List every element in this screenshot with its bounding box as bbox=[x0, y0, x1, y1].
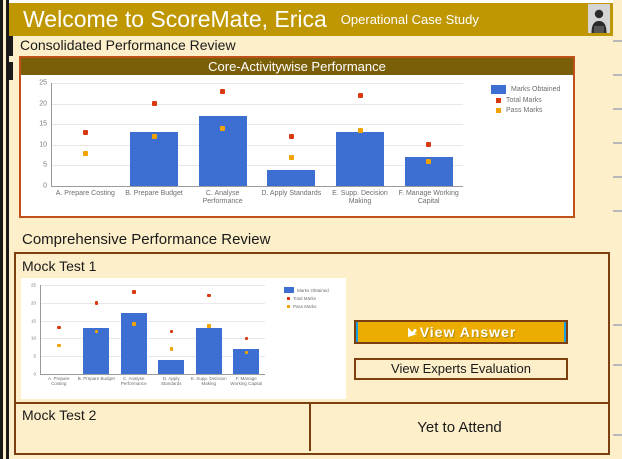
chart2-plotarea bbox=[40, 285, 265, 374]
consolidated-performance-review-label: Consolidated Performance Review bbox=[20, 37, 236, 53]
chart1-legend-label: Total Marks bbox=[506, 97, 542, 104]
chart2-datapoint bbox=[132, 322, 136, 326]
chart2-datapoint bbox=[245, 351, 249, 355]
app-header: Welcome to ScoreMate, Erica Operational … bbox=[9, 3, 613, 36]
right-edge-ticks bbox=[613, 34, 622, 459]
comprehensive-performance-review-label: Comprehensive Performance Review bbox=[22, 231, 270, 248]
mock-test-1-actions: View Answer View Experts Evaluation bbox=[354, 320, 602, 344]
chart2-gridline bbox=[40, 338, 265, 339]
chart-mock-test-1: 0510152025A. Prepare CostingB. Prepare B… bbox=[22, 279, 345, 398]
chart1-legend-item: Marks Obtained bbox=[491, 85, 560, 94]
mock-test-1-chart-container: 0510152025A. Prepare CostingB. Prepare B… bbox=[21, 278, 346, 399]
chart1-datapoint bbox=[220, 89, 225, 94]
chart2-gridline bbox=[40, 303, 265, 304]
chart2-bar bbox=[196, 328, 222, 374]
chart2-gridline bbox=[40, 285, 265, 286]
mock-test-2-row: Mock Test 2 Yet to Attend bbox=[16, 404, 608, 451]
chart2-legend-item: Pass Marks bbox=[284, 304, 329, 309]
chart1-category-label: F. Manage Working Capital bbox=[394, 190, 463, 206]
legend-dot-swatch-icon bbox=[496, 108, 501, 113]
cursor-arrow-icon bbox=[406, 326, 419, 339]
scoremate-page: Welcome to ScoreMate, Erica Operational … bbox=[0, 0, 622, 459]
chart1-plotarea bbox=[51, 83, 463, 186]
header-subtitle: Operational Case Study bbox=[341, 12, 479, 27]
chart1-y-axis bbox=[51, 83, 52, 186]
chart1-legend-item: Total Marks bbox=[491, 97, 560, 104]
mock-test-2-label: Mock Test 2 bbox=[16, 404, 311, 451]
chart2-legend-label: Pass Marks bbox=[293, 304, 317, 309]
chart1-plot-container: 0510152025A. Prepare CostingB. Prepare B… bbox=[21, 75, 573, 216]
chart1-ytick-label: 20 bbox=[21, 100, 47, 107]
chart1-legend-item: Pass Marks bbox=[491, 107, 560, 114]
chart1-bar bbox=[336, 132, 384, 186]
chart2-legend-item: Marks Obtained bbox=[284, 287, 329, 293]
chart2-datapoint bbox=[245, 337, 249, 341]
chart2-datapoint bbox=[170, 347, 174, 351]
chart1-ytick-label: 5 bbox=[21, 162, 47, 169]
chart1-ytick-label: 25 bbox=[21, 80, 47, 87]
chart2-category-label: D. Apply Standards bbox=[153, 376, 191, 386]
mock-test-1-row: Mock Test 1 0510152025A. Prepare Costing… bbox=[16, 254, 608, 404]
chart2-ytick-label: 5 bbox=[22, 354, 36, 359]
chart2-bar bbox=[83, 328, 109, 374]
chart2-category-label: A. Prepare Costing bbox=[40, 376, 78, 386]
chart1-category-label: E. Supp. Decision Making bbox=[326, 190, 395, 206]
chart2-datapoint bbox=[57, 326, 61, 330]
legend-bar-swatch-icon bbox=[491, 85, 506, 94]
chart1-category-label: C. Analyse Performance bbox=[188, 190, 257, 206]
chart2-legend: Marks ObtainedTotal MarksPass Marks bbox=[284, 287, 329, 312]
comprehensive-review-box: Mock Test 1 0510152025A. Prepare Costing… bbox=[14, 252, 610, 455]
chart1-ytick-label: 0 bbox=[21, 183, 47, 190]
chart2-ytick-label: 25 bbox=[22, 283, 36, 288]
chart2-datapoint bbox=[170, 330, 174, 334]
legend-dot-swatch-icon bbox=[496, 98, 501, 103]
chart1-datapoint bbox=[426, 142, 431, 147]
chart1-legend-label: Marks Obtained bbox=[511, 86, 560, 93]
chart1-bar bbox=[267, 170, 315, 186]
chart2-category-label: C. Analyse Performance bbox=[115, 376, 153, 386]
chart2-ytick-label: 0 bbox=[22, 372, 36, 377]
chart1-gridline bbox=[51, 104, 463, 105]
chart2-datapoint bbox=[95, 301, 99, 305]
chart2-ytick-label: 10 bbox=[22, 336, 36, 341]
chart2-datapoint bbox=[57, 344, 61, 348]
chart2-category-label: F. Manage Working Capital bbox=[228, 376, 266, 386]
chart1-legend: Marks ObtainedTotal MarksPass Marks bbox=[491, 85, 560, 117]
legend-dot-swatch-icon bbox=[287, 297, 290, 300]
mock-test-2-status: Yet to Attend bbox=[311, 404, 608, 451]
chart2-category-label: E. Supp. Decision Making bbox=[190, 376, 228, 386]
chart1-gridline bbox=[51, 83, 463, 84]
chart2-gridline bbox=[40, 321, 265, 322]
chart1-bar bbox=[130, 132, 178, 186]
chart1-ytick-label: 15 bbox=[21, 121, 47, 128]
chart2-y-axis bbox=[40, 285, 41, 374]
user-avatar-icon[interactable] bbox=[588, 4, 610, 33]
view-answer-button[interactable]: View Answer bbox=[354, 320, 568, 344]
chart2-legend-label: Marks Obtained bbox=[297, 288, 329, 293]
core-activitywise-performance-panel: Core-Activitywise Performance 0510152025… bbox=[19, 56, 575, 218]
view-answer-label: View Answer bbox=[420, 324, 517, 340]
chart2-gridline bbox=[40, 374, 265, 375]
chart1-datapoint bbox=[358, 93, 363, 98]
chart2-legend-item: Total Marks bbox=[284, 296, 329, 301]
chart1-category-label: D. Apply Standards bbox=[257, 190, 326, 198]
mock-test-1-label: Mock Test 1 bbox=[22, 258, 96, 274]
chart1-category-label: A. Prepare Costing bbox=[51, 190, 120, 198]
legend-bar-swatch-icon bbox=[284, 287, 294, 293]
chart1-category-label: B. Prepare Budget bbox=[120, 190, 189, 198]
chart1-datapoint bbox=[83, 130, 88, 135]
chart-core-activitywise: 0510152025A. Prepare CostingB. Prepare B… bbox=[21, 75, 573, 216]
chart1-datapoint bbox=[358, 128, 363, 133]
chart1-legend-label: Pass Marks bbox=[506, 107, 543, 114]
chart1-datapoint bbox=[152, 101, 157, 106]
chart1-gridline bbox=[51, 186, 463, 187]
chart1-title: Core-Activitywise Performance bbox=[21, 58, 573, 75]
chart1-gridline bbox=[51, 124, 463, 125]
chart1-datapoint bbox=[220, 126, 225, 131]
chart2-ytick-label: 20 bbox=[22, 300, 36, 305]
chart2-gridline bbox=[40, 356, 265, 357]
chart2-datapoint bbox=[132, 290, 136, 294]
chart2-datapoint bbox=[207, 294, 211, 298]
chart1-datapoint bbox=[426, 159, 431, 164]
chart1-ytick-label: 10 bbox=[21, 141, 47, 148]
view-experts-evaluation-button[interactable]: View Experts Evaluation bbox=[354, 358, 568, 380]
chart2-category-label: B. Prepare Budget bbox=[78, 376, 116, 381]
chart1-datapoint bbox=[289, 134, 294, 139]
chart1-gridline bbox=[51, 145, 463, 146]
chart1-gridline bbox=[51, 165, 463, 166]
chart2-legend-label: Total Marks bbox=[293, 296, 316, 301]
chart2-datapoint bbox=[95, 330, 99, 334]
chart1-datapoint bbox=[289, 155, 294, 160]
welcome-title: Welcome to ScoreMate, Erica bbox=[9, 8, 327, 31]
chart2-bar bbox=[158, 360, 184, 374]
chart1-datapoint bbox=[83, 151, 88, 156]
chart1-datapoint bbox=[152, 134, 157, 139]
chart2-datapoint bbox=[207, 324, 211, 328]
legend-dot-swatch-icon bbox=[287, 305, 290, 308]
scrollbar-thumb-secondary[interactable] bbox=[9, 62, 13, 80]
chart2-ytick-label: 15 bbox=[22, 318, 36, 323]
